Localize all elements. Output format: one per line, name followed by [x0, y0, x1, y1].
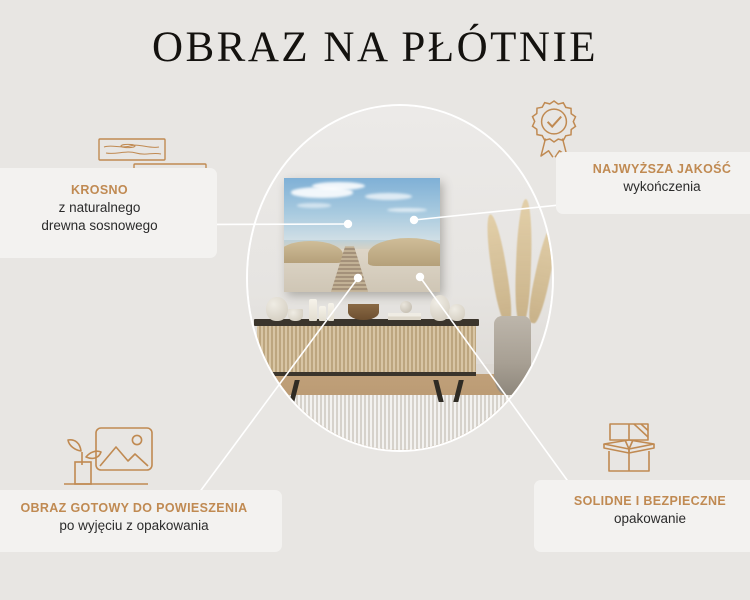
- sideboard: [254, 319, 479, 381]
- feature-heading-krosno: KROSNO: [0, 182, 201, 199]
- ceramic-vase: [266, 297, 287, 321]
- feature-card-krosno: KROSNO z naturalnego drewna sosnowego: [0, 168, 217, 258]
- feature-line-opakowanie-1: opakowanie: [550, 510, 750, 528]
- candle: [309, 299, 317, 321]
- feature-card-gotowy: OBRAZ GOTOWY DO POWIESZENIA po wyjęciu z…: [0, 490, 282, 552]
- ceramic-vase: [430, 295, 450, 320]
- artwork-cloud: [365, 193, 412, 200]
- page-title: OBRAZ NA PŁÓTNIE: [0, 26, 750, 69]
- area-rug: [248, 395, 552, 450]
- feature-line-krosno-2: drewna sosnowego: [0, 217, 201, 235]
- room-interior-photo: [248, 106, 552, 450]
- feature-heading-opakowanie: SOLIDNE I BEZPIECZNE: [550, 493, 750, 510]
- sideboard-top: [254, 319, 479, 326]
- room-scene: [248, 106, 552, 450]
- framed-picture-icon: [58, 424, 156, 492]
- artwork-cloud: [297, 203, 331, 208]
- feature-heading-jakosc: NAJWYŻSZA JAKOŚĆ: [572, 161, 750, 178]
- stacked-books: [388, 313, 421, 320]
- feature-line-krosno-1: z naturalnego: [0, 199, 201, 217]
- infographic-root: OBRAZ NA PŁÓTNIE: [0, 0, 750, 600]
- candle: [319, 306, 326, 321]
- feature-card-opakowanie: SOLIDNE I BEZPIECZNE opakowanie: [534, 480, 750, 552]
- wooden-bowl: [348, 304, 378, 320]
- artwork-dune-grass: [368, 238, 439, 265]
- tall-floor-vase: [494, 316, 530, 395]
- sideboard-slatted-doors: [257, 326, 475, 372]
- ceramic-bowl: [288, 309, 303, 321]
- candle: [328, 303, 335, 321]
- sideboard-base: [257, 372, 475, 376]
- feature-card-jakosc: NAJWYŻSZA JAKOŚĆ wykończenia: [556, 152, 750, 214]
- feature-line-jakosc-1: wykończenia: [572, 178, 750, 196]
- feature-line-gotowy-1: po wyjęciu z opakowania: [2, 517, 266, 535]
- cardboard-box-icon: [598, 418, 660, 480]
- artwork-cloud: [312, 182, 365, 190]
- canvas-artwork: [284, 178, 439, 292]
- feature-heading-gotowy: OBRAZ GOTOWY DO POWIESZENIA: [2, 500, 266, 517]
- ceramic-vase: [449, 304, 466, 321]
